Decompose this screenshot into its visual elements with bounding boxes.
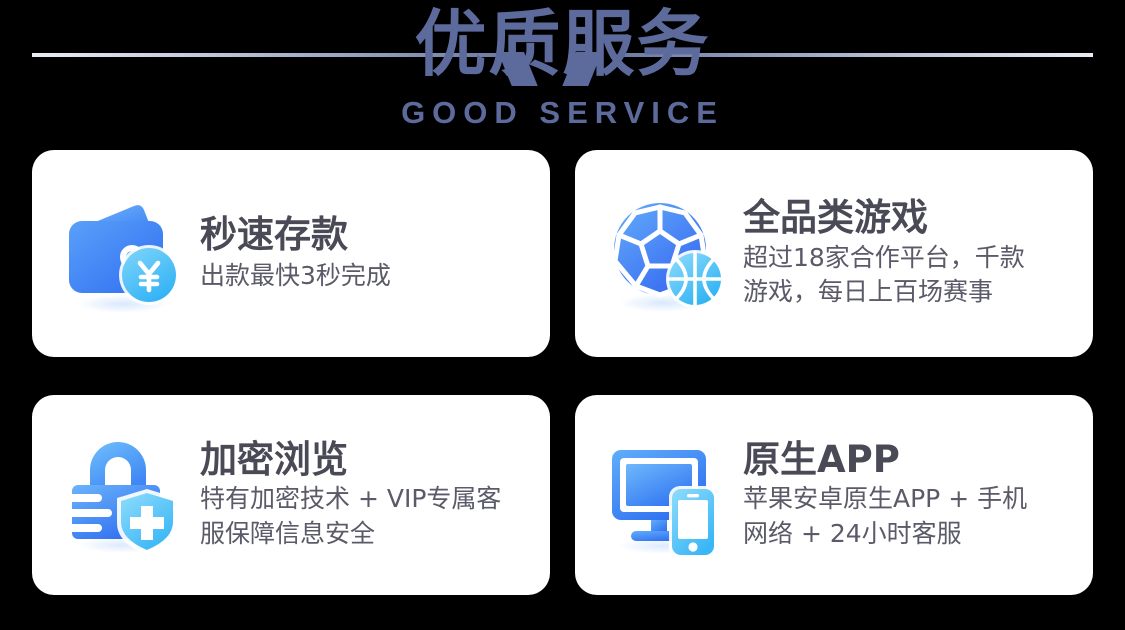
feature-card-native-app[interactable]: 原生APP 苹果安卓原生APP + 手机 网络 + 24小时客服 <box>575 395 1093 595</box>
card-text-block: 全品类游戏 超过18家合作平台，千款 游戏，每日上百场赛事 <box>743 197 1075 309</box>
card-title: 加密浏览 <box>200 439 532 480</box>
feature-card-grid: 秒速存款 出款最快3秒完成 <box>32 150 1093 595</box>
card-subtitle-line: 超过18家合作平台，千款 <box>743 241 1075 276</box>
card-title: 原生APP <box>743 439 1075 480</box>
card-subtitle-line: 游戏，每日上百场赛事 <box>743 275 1075 310</box>
card-subtitle-line: 特有加密技术 + VIP专属客 <box>200 482 532 517</box>
lock-shield-icon <box>60 432 186 558</box>
card-text-block: 原生APP 苹果安卓原生APP + 手机 网络 + 24小时客服 <box>743 439 1075 551</box>
monitor-phone-icon <box>603 432 729 558</box>
card-subtitle-line: 苹果安卓原生APP + 手机 <box>743 482 1075 517</box>
soccer-basketball-icon <box>603 191 729 317</box>
page-subtitle: GOOD SERVICE <box>0 97 1125 128</box>
card-subtitle-line: 服保障信息安全 <box>200 517 532 552</box>
wallet-yen-icon <box>60 191 186 317</box>
card-text-block: 加密浏览 特有加密技术 + VIP专属客 服保障信息安全 <box>200 439 532 551</box>
card-title: 秒速存款 <box>200 214 532 255</box>
card-title: 全品类游戏 <box>743 197 1075 238</box>
card-subtitle-line: 出款最快3秒完成 <box>200 259 532 294</box>
card-subtitle-line: 网络 + 24小时客服 <box>743 517 1075 552</box>
feature-card-deposit[interactable]: 秒速存款 出款最快3秒完成 <box>32 150 550 357</box>
feature-card-encryption[interactable]: 加密浏览 特有加密技术 + VIP专属客 服保障信息安全 <box>32 395 550 595</box>
page-title: 优质服务 <box>0 8 1125 80</box>
card-text-block: 秒速存款 出款最快3秒完成 <box>200 214 532 294</box>
feature-card-games[interactable]: 全品类游戏 超过18家合作平台，千款 游戏，每日上百场赛事 <box>575 150 1093 357</box>
promo-page: 优质服务 GOOD SERVICE <box>0 0 1125 630</box>
page-header: 优质服务 GOOD SERVICE <box>0 0 1125 140</box>
